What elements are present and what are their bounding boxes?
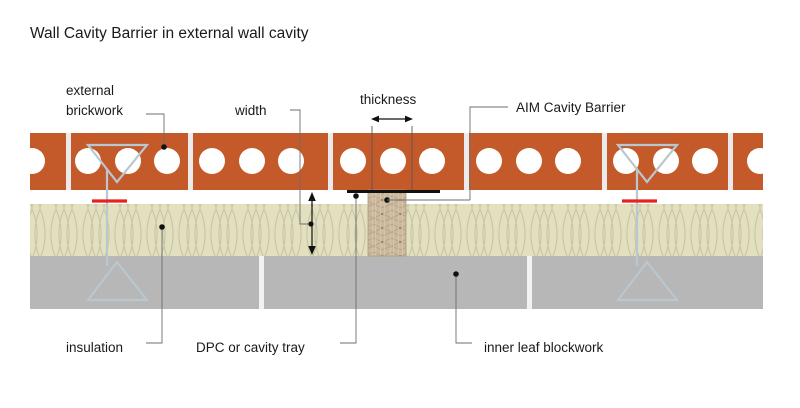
external-brickwork-layer xyxy=(19,133,773,190)
wall-cavity-barrier-diagram: Wall Cavity Barrier in external wall cav… xyxy=(0,0,800,408)
brick-perforations xyxy=(19,148,773,174)
diagram-canvas: Wall Cavity Barrier in external wall cav… xyxy=(0,0,800,408)
page-title: Wall Cavity Barrier in external wall cav… xyxy=(30,25,309,42)
external-brickwork-label-line2: brickwork xyxy=(66,103,123,118)
blockwork-joint xyxy=(527,256,532,309)
dpc-cavity-tray-label: DPC or cavity tray xyxy=(196,340,305,355)
external-brickwork-label-line1: external xyxy=(66,83,114,98)
thickness-label: thickness xyxy=(360,92,417,107)
insulation-label: insulation xyxy=(66,340,123,355)
width-label: width xyxy=(234,103,267,118)
inner-leaf-blockwork-label: inner leaf blockwork xyxy=(484,340,604,355)
blockwork-joint xyxy=(259,256,264,309)
aim-cavity-barrier-label: AIM Cavity Barrier xyxy=(516,100,626,115)
